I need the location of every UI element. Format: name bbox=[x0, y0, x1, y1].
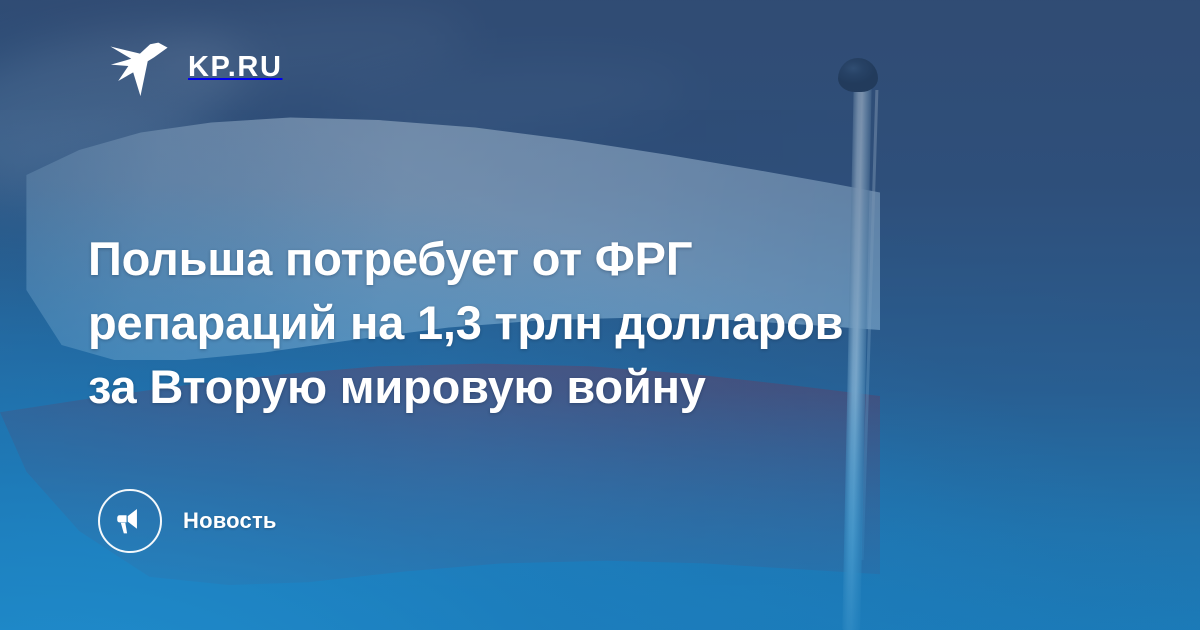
headline-line-1: Польша потребует от ФРГ bbox=[88, 227, 1048, 291]
swallow-bird-icon bbox=[108, 36, 170, 98]
megaphone-badge-circle bbox=[98, 489, 162, 553]
headline-line-3: за Вторую мировую войну bbox=[88, 355, 1048, 419]
megaphone-icon bbox=[115, 506, 145, 536]
brand-logo-link[interactable]: KP.RU bbox=[108, 36, 283, 98]
status-badge[interactable]: Новость bbox=[98, 489, 277, 553]
brand-name: KP.RU bbox=[188, 53, 283, 82]
card-content: KP.RU Польша потребует от ФРГ репараций … bbox=[0, 0, 1200, 630]
headline-line-2: репараций на 1,3 трлн долларов bbox=[88, 291, 1048, 355]
badge-label: Новость bbox=[183, 508, 277, 534]
page-title: Польша потребует от ФРГ репараций на 1,3… bbox=[88, 227, 1048, 419]
news-share-card: KP.RU Польша потребует от ФРГ репараций … bbox=[0, 0, 1200, 630]
